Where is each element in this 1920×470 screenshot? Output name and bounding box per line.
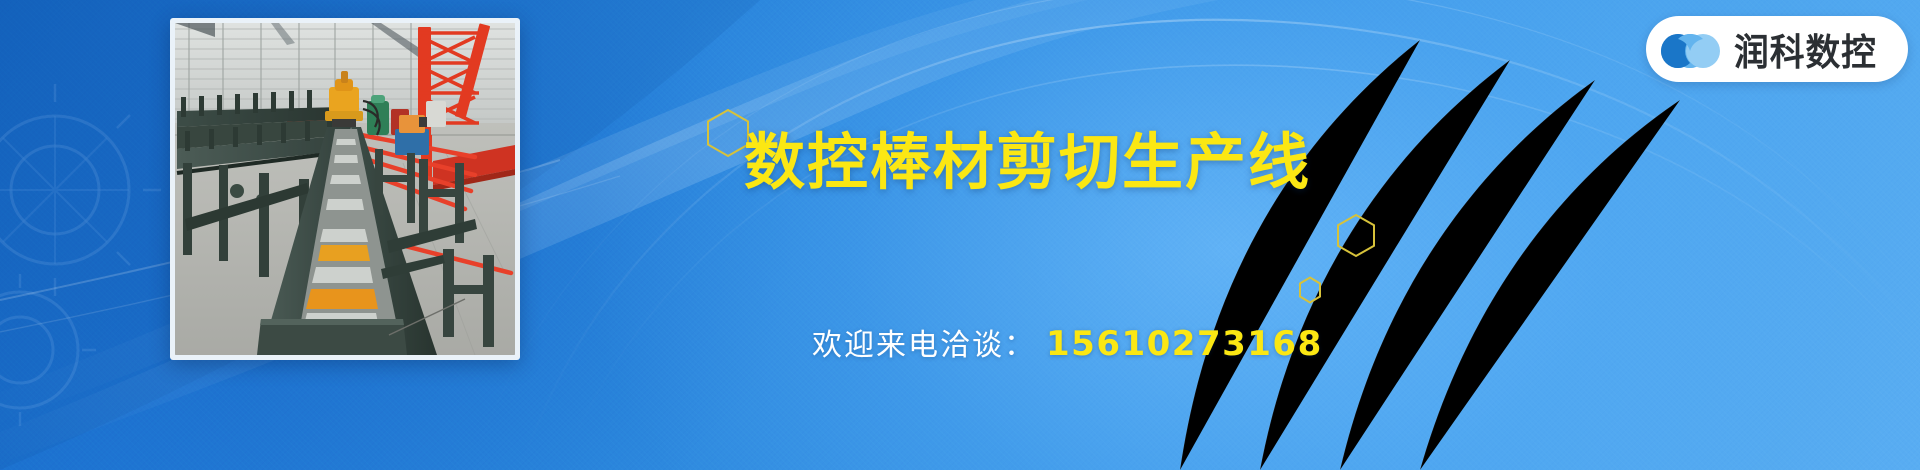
factory-photo: [175, 23, 515, 355]
factory-photo-frame: [170, 18, 520, 360]
cloud-circles-icon: [1660, 27, 1722, 71]
contact-phone[interactable]: 15610273168: [1046, 324, 1323, 364]
page-title: 数控棒材剪切生产线: [744, 131, 1311, 194]
hexagon-outline-icon: [1336, 213, 1376, 258]
brand-name: 润科数控: [1734, 22, 1877, 76]
production-line-illustration: [175, 23, 515, 355]
hexagon-outline-icon: [1298, 276, 1322, 304]
contact-line: 欢迎来电洽谈： 15610273168: [812, 320, 1323, 364]
brand-logo[interactable]: 润科数控: [1646, 16, 1908, 82]
contact-label: 欢迎来电洽谈：: [812, 320, 1036, 364]
promo-banner: 数控棒材剪切生产线 欢迎来电洽谈： 15610273168 润科数控: [0, 0, 1920, 470]
